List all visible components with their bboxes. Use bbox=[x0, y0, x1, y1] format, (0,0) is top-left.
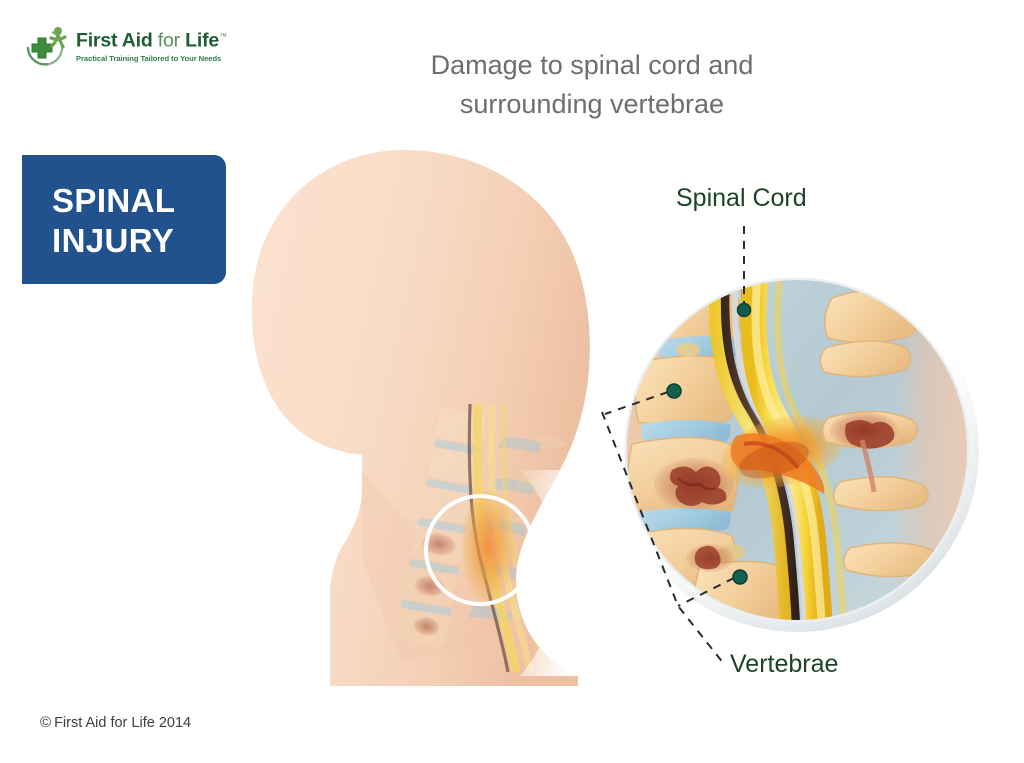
slide-canvas: First Aid for Life™ Practical Training T… bbox=[0, 0, 1024, 763]
badge-line-1: SPINAL bbox=[52, 181, 226, 221]
logo-word-for: for bbox=[153, 30, 186, 52]
neck-facet-joints bbox=[469, 434, 543, 624]
head-profile bbox=[247, 150, 590, 686]
neck-shading bbox=[362, 470, 556, 660]
badge-line-2: INJURY bbox=[52, 221, 226, 261]
leader-vertebrae-stem bbox=[602, 412, 724, 664]
brand-logo[interactable]: First Aid for Life™ Practical Training T… bbox=[22, 24, 252, 70]
leader-vertebrae-upper bbox=[605, 392, 668, 414]
marker-spinal-cord bbox=[738, 304, 751, 317]
marker-vertebra-upper bbox=[667, 384, 681, 398]
page-title-line-2: surrounding vertebrae bbox=[352, 85, 832, 124]
page-title: Damage to spinal cord and surrounding ve… bbox=[352, 46, 832, 124]
neck-translucency-veil bbox=[520, 470, 580, 676]
magnified-inset bbox=[615, 268, 980, 640]
inset-ring bbox=[615, 268, 979, 632]
neck-vertebral-bruising bbox=[406, 531, 457, 638]
neck-spinous-processes bbox=[486, 431, 572, 667]
cervical-spine-overlay bbox=[393, 404, 573, 672]
inset-content bbox=[620, 270, 980, 640]
logo-wordmark: First Aid for Life™ bbox=[76, 26, 252, 52]
callout-leaders bbox=[602, 226, 744, 664]
logo-tagline: Practical Training Tailored to Your Need… bbox=[76, 54, 252, 63]
inset-spinous-processes bbox=[820, 290, 940, 638]
inset-vertebral-bodies bbox=[627, 292, 786, 631]
logo-word-first-aid: First Aid bbox=[76, 30, 153, 52]
neck-zoom-highlight-circle bbox=[426, 496, 534, 604]
logo-wordmark-block: First Aid for Life™ Practical Training T… bbox=[76, 26, 252, 63]
inset-anterior-soft-tissue bbox=[620, 270, 720, 640]
callout-label-vertebrae: Vertebrae bbox=[730, 649, 838, 679]
logo-trademark: ™ bbox=[219, 32, 227, 41]
inset-posterior-soft-tissue bbox=[890, 270, 980, 640]
callout-label-spinal-cord: Spinal Cord bbox=[676, 183, 807, 213]
copyright-notice: ©First Aid for Life 2014 bbox=[40, 714, 191, 731]
face-profile bbox=[247, 300, 362, 506]
page-title-line-1: Damage to spinal cord and bbox=[352, 46, 832, 85]
inset-vertebral-fractures bbox=[654, 458, 734, 572]
leader-vertebrae-lower bbox=[678, 578, 734, 606]
inset-spinal-canal bbox=[715, 270, 844, 640]
first-aid-cross-logo-icon bbox=[22, 24, 74, 70]
inset-process-fracture bbox=[830, 412, 898, 449]
callout-markers bbox=[667, 304, 751, 585]
logo-word-life: Life bbox=[185, 30, 219, 52]
neck-vertebral-bodies bbox=[394, 406, 486, 647]
inset-cord-compression-injury bbox=[714, 404, 851, 500]
inset-ring-inner-edge bbox=[626, 279, 968, 621]
neck-injury-glow bbox=[462, 490, 514, 602]
copyright-text: First Aid for Life 2014 bbox=[54, 715, 191, 731]
marker-vertebra-lower bbox=[733, 570, 747, 584]
head-silhouette bbox=[252, 150, 590, 686]
neck-spinal-cord bbox=[469, 404, 544, 672]
spinal-injury-badge: SPINAL INJURY bbox=[22, 155, 226, 284]
copyright-symbol: © bbox=[40, 714, 51, 731]
neck-discs bbox=[400, 438, 480, 616]
